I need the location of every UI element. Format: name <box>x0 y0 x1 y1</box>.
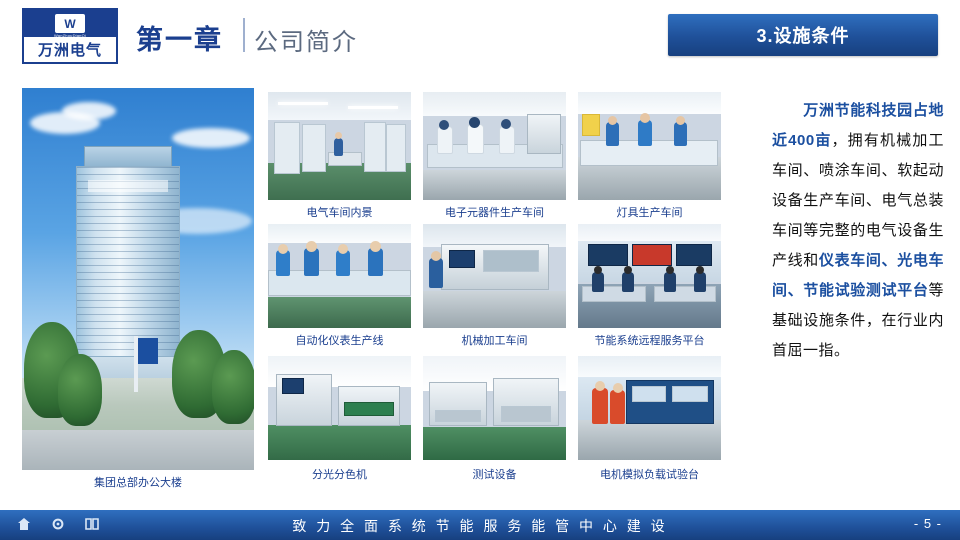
operator-head <box>666 266 674 274</box>
floor <box>268 425 411 460</box>
scene <box>578 92 721 200</box>
caption-energy-saving-remote-service-platform: 节能系统远程服务平台 <box>578 332 721 348</box>
caption-lamp-production-workshop: 灯具生产车间 <box>578 204 721 220</box>
bench-panel <box>632 386 666 402</box>
equipment-cabinet <box>302 124 326 172</box>
wall-banner <box>632 244 672 266</box>
worker-figure <box>368 248 383 276</box>
logo-mark-icon: W <box>55 14 85 33</box>
worker-head <box>608 116 617 125</box>
cloud-shape <box>62 102 116 120</box>
scene <box>578 224 721 328</box>
caption-machining-workshop: 机械加工车间 <box>423 332 566 348</box>
caption-electronic-components-workshop: 电子元器件生产车间 <box>423 204 566 220</box>
machine-display <box>282 378 304 394</box>
logo-pinyin: WanZhouDianQi <box>24 33 116 38</box>
wall-monitor <box>588 244 628 266</box>
caption-test-equipment: 测试设备 <box>423 466 566 482</box>
ceiling-lamp <box>278 102 328 105</box>
worker-head <box>278 244 288 254</box>
photo-machining-workshop <box>423 224 566 328</box>
office-tower <box>76 166 180 380</box>
photo-electrical-workshop <box>268 92 411 200</box>
footer-bar: 致 力 全 面 系 统 节 能 服 务 能 管 中 心 建 设 - 5 - <box>0 510 960 540</box>
section-badge-label: 3.设施条件 <box>756 22 849 48</box>
tower-signage <box>88 180 168 192</box>
scene <box>268 224 411 328</box>
worker-figure-red <box>610 390 625 424</box>
photo-test-equipment <box>423 356 566 460</box>
photo-motor-simulated-load-test-bench <box>578 356 721 460</box>
equipment-cabinet <box>386 124 406 172</box>
wall-monitor <box>676 244 712 266</box>
flag-pole <box>134 336 138 392</box>
scene <box>268 92 411 200</box>
ceiling-lamp <box>348 106 398 109</box>
photo-color-sorting-machine <box>268 356 411 460</box>
operator-figure <box>664 272 676 292</box>
caption-automated-instrument-line: 自动化仪表生产线 <box>268 332 411 348</box>
chapter-title: 第一章 <box>136 18 223 57</box>
caption-headquarters-building: 集团总部办公大楼 <box>22 474 254 490</box>
photo-headquarters-building <box>22 88 254 470</box>
operator-head <box>624 266 632 274</box>
floor <box>578 420 721 460</box>
scene <box>423 224 566 328</box>
warning-sign <box>582 114 600 136</box>
scene <box>268 356 411 460</box>
footer-slogan: 致 力 全 面 系 统 节 能 服 务 能 管 中 心 建 设 <box>0 516 960 536</box>
worker-figure <box>429 258 443 288</box>
worker-figure <box>638 120 652 146</box>
body-text-run <box>772 102 803 119</box>
tree-shape <box>58 354 102 426</box>
cloud-shape <box>172 128 250 148</box>
equipment-cabinet <box>274 122 300 174</box>
worker-head <box>595 381 605 391</box>
ceiling <box>268 224 411 243</box>
body-paragraph: 万洲节能科技园占地近400亩，拥有机械加工车间、喷涂车间、软起动设备生产车间、电… <box>772 96 944 366</box>
worker-figure <box>334 138 343 156</box>
section-badge: 3.设施条件 <box>668 14 938 56</box>
worker-figure-red <box>592 388 608 424</box>
chapter-subtitle: 公司简介 <box>254 22 358 57</box>
machine-display <box>449 250 475 268</box>
floor <box>423 291 566 328</box>
operator-figure <box>592 272 604 292</box>
logo-emblem: W WanZhouDianQi <box>24 10 116 37</box>
body-text-run: ，拥有机械加工车间、喷涂车间、软起动设备生产车间、电气总装车间等完整的电气设备生… <box>772 132 944 269</box>
scene <box>578 356 721 460</box>
worker-cap <box>439 120 449 130</box>
floor <box>423 170 566 200</box>
worker-head <box>370 241 381 252</box>
worker-head <box>640 113 650 123</box>
photo-lamp-production-workshop <box>578 92 721 200</box>
worker-figure <box>606 122 619 146</box>
tower-crown <box>84 146 172 168</box>
ceiling <box>578 92 721 114</box>
worker-figure <box>467 124 484 154</box>
tree-shape <box>212 350 254 424</box>
machine-panel <box>501 406 551 422</box>
ceiling <box>423 92 566 116</box>
machine-panel <box>435 410 481 422</box>
ceiling <box>578 224 721 241</box>
operator-head <box>696 266 704 274</box>
worker-head <box>335 132 342 139</box>
worker-cap <box>501 119 511 129</box>
worker-head <box>306 241 317 252</box>
operator-figure <box>622 272 634 292</box>
operator-head <box>594 266 602 274</box>
road-area <box>22 430 254 470</box>
ceiling <box>578 356 721 377</box>
page-number: - 5 - <box>914 516 942 531</box>
worker-figure <box>437 126 453 154</box>
production-machine <box>527 114 561 154</box>
slide: W WanZhouDianQi 万洲电气 第一章 公司简介 3.设施条件 集团总… <box>0 0 960 540</box>
worker-head <box>431 251 441 261</box>
worker-head <box>613 383 623 393</box>
caption-motor-simulated-load-test-bench: 电机模拟负载试验台 <box>578 466 721 482</box>
worker-figure <box>674 122 687 146</box>
scene <box>423 92 566 200</box>
title-divider <box>243 18 245 52</box>
worker-head <box>676 116 685 125</box>
caption-electrical-workshop: 电气车间内景 <box>268 204 411 220</box>
worker-figure <box>499 126 515 154</box>
worker-head <box>338 244 348 254</box>
equipment-cabinet <box>364 122 386 172</box>
scene <box>423 356 566 460</box>
company-logo: W WanZhouDianQi 万洲电气 <box>22 8 118 64</box>
photo-energy-saving-remote-service-platform <box>578 224 721 328</box>
floor <box>268 297 411 328</box>
photo-automated-instrument-line <box>268 224 411 328</box>
caption-color-sorting-machine: 分光分色机 <box>268 466 411 482</box>
photo-electronic-components-workshop <box>423 92 566 200</box>
worker-figure <box>304 248 319 276</box>
bench-panel <box>672 386 708 402</box>
operator-figure <box>694 272 706 292</box>
worker-cap <box>469 117 480 128</box>
logo-company-name: 万洲电气 <box>38 37 102 62</box>
conveyor-belt <box>344 402 394 416</box>
floor <box>423 427 566 460</box>
machine-window <box>483 250 539 272</box>
